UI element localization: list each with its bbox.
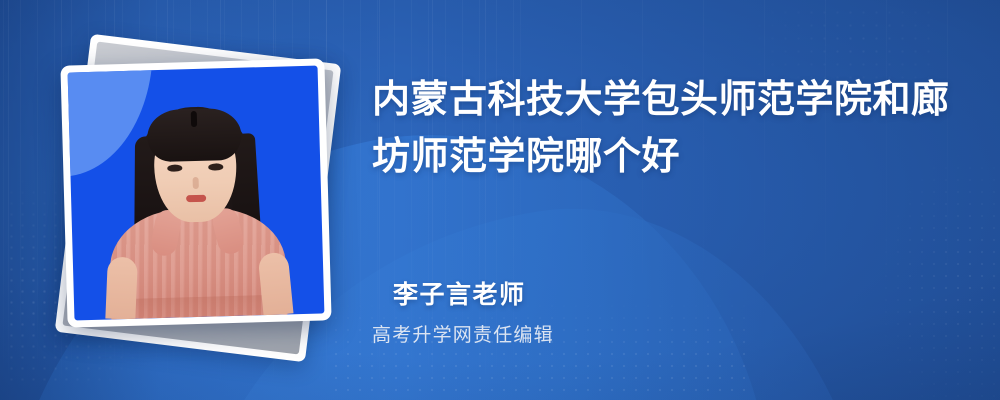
portrait-photo-stack	[50, 40, 350, 360]
author-portrait-photo	[68, 66, 325, 321]
author-role: 高考升学网责任编辑	[372, 320, 554, 347]
hair-center-part	[191, 111, 197, 127]
article-title: 内蒙古科技大学包头师范学院和廊坊师范学院哪个好	[372, 72, 952, 186]
portrait-figure	[68, 66, 325, 321]
mouth-shape	[186, 195, 206, 203]
photo-card-front	[60, 58, 331, 327]
banner-text-column: 内蒙古科技大学包头师范学院和廊坊师范学院哪个好 李子言老师 高考升学网责任编辑	[372, 0, 972, 400]
article-header-banner: 内蒙古科技大学包头师范学院和廊坊师范学院哪个好 李子言老师 高考升学网责任编辑	[0, 0, 1000, 400]
left-arm-shape	[105, 257, 138, 320]
right-arm-shape	[258, 251, 294, 316]
dress-waistband	[113, 295, 285, 320]
nose-shape	[193, 177, 199, 189]
author-name: 李子言老师	[393, 275, 526, 311]
